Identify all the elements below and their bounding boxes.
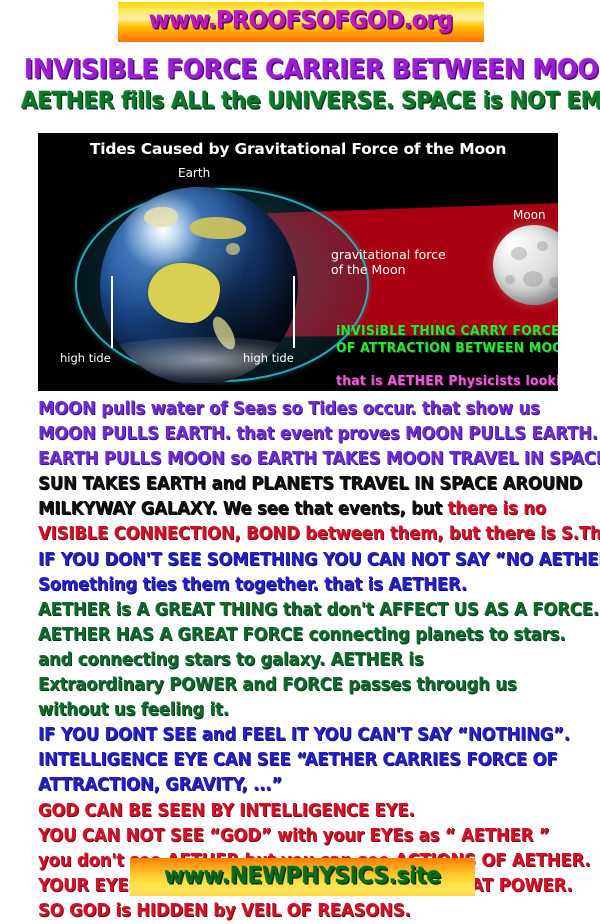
body-line-tail: there is no: [448, 499, 546, 519]
moon-crater: [549, 277, 558, 288]
moon-crater: [537, 241, 548, 251]
body-line: MOON pulls water of Seas so Tides occur.…: [38, 397, 572, 422]
moon-label: Moon: [513, 208, 546, 222]
body-line: YOU CAN NOT SEE “GOD” with your EYEs as …: [38, 824, 572, 849]
body-line: AETHER HAS A GREAT FORCE connecting plan…: [38, 623, 572, 648]
body-text-block: MOON pulls water of Seas so Tides occur.…: [38, 397, 600, 924]
high-tide-tick-right: [293, 276, 295, 348]
high-tide-label-right: high tide: [243, 351, 294, 365]
body-line: Something ties them together. that is AE…: [38, 573, 572, 598]
overlay-green-line2: OF ATTRACTION BETWEEN MOON - EARTH: [336, 340, 558, 357]
landmass-asia: [190, 217, 246, 239]
overlay-green-caption: iNVISiBLE THING CARRY FORCE OF ATTRACTIO…: [336, 323, 558, 357]
body-line: SO GOD is HIDDEN by VEIL OF REASONS.: [38, 899, 572, 924]
overlay-green-line1: iNVISiBLE THING CARRY FORCE: [336, 323, 558, 340]
body-line: IF YOU DON'T SEE SOMETHING YOU CAN NOT S…: [38, 548, 572, 573]
earth-label: Earth: [178, 166, 210, 180]
landmass-north: [144, 207, 178, 227]
landmass-island: [226, 243, 240, 255]
body-line: without us feeling it.: [38, 698, 572, 723]
body-line: ATTRACTION, GRAVITY, ...”: [38, 773, 572, 798]
body-line: EARTH PULLS MOON so EARTH TAKES MOON TRA…: [38, 447, 572, 472]
page-title-line2: AETHER fills ALL the UNIVERSE. SPACE is …: [21, 88, 579, 114]
top-banner-url[interactable]: www.PROOFSOFGOD.org: [131, 6, 471, 34]
high-tide-tick-left: [111, 276, 113, 348]
body-line: AETHER is A GREAT THING that don't AFFEC…: [38, 598, 572, 623]
page-title-line1: INVISIBLE FORCE CARRIER BETWEEN MOON and…: [24, 54, 576, 85]
bottom-banner-url[interactable]: www.NEWPHYSICS.site: [140, 863, 464, 889]
moon-crater: [505, 275, 515, 284]
tides-illustration: Tides Caused by Gravitational Force of t…: [38, 133, 558, 391]
high-tide-label-left: high tide: [60, 351, 111, 365]
body-line-head: MILKYWAY GALAXY. We see that events, but: [38, 499, 448, 519]
top-banner: www.PROOFSOFGOD.org: [118, 2, 484, 42]
illustration-title: Tides Caused by Gravitational Force of t…: [38, 140, 558, 158]
body-line: INTELLIGENCE EYE CAN SEE “AETHER CARRIES…: [38, 748, 572, 773]
overlay-pink-caption: that is AETHER Physicists looking for..: [336, 374, 558, 389]
body-line: SUN TAKES EARTH and PLANETS TRAVEL IN SP…: [38, 472, 572, 497]
body-line: and connecting stars to galaxy. AETHER i…: [38, 648, 572, 673]
moon-crater: [523, 271, 543, 287]
gravitational-force-label: gravitational force of the Moon: [331, 247, 446, 277]
landmass-australia: [148, 263, 220, 323]
gravitational-force-label-line2: of the Moon: [331, 262, 446, 277]
bottom-banner: www.NEWPHYSICS.site: [130, 858, 475, 896]
gravitational-force-label-line1: gravitational force: [331, 247, 446, 262]
body-line: MOON PULLS EARTH. that event proves MOON…: [38, 422, 572, 447]
moon-crater: [511, 247, 527, 260]
body-line: VISIBLE CONNECTION, BOND between them, b…: [38, 522, 572, 547]
body-line: Extraordinary POWER and FORCE passes thr…: [38, 673, 572, 698]
body-line: MILKYWAY GALAXY. We see that events, but…: [38, 497, 572, 522]
body-line: GOD CAN BE SEEN BY INTELLIGENCE EYE.: [38, 799, 572, 824]
body-line: IF YOU DONT SEE and FEEL IT YOU CAN'T SA…: [38, 723, 572, 748]
